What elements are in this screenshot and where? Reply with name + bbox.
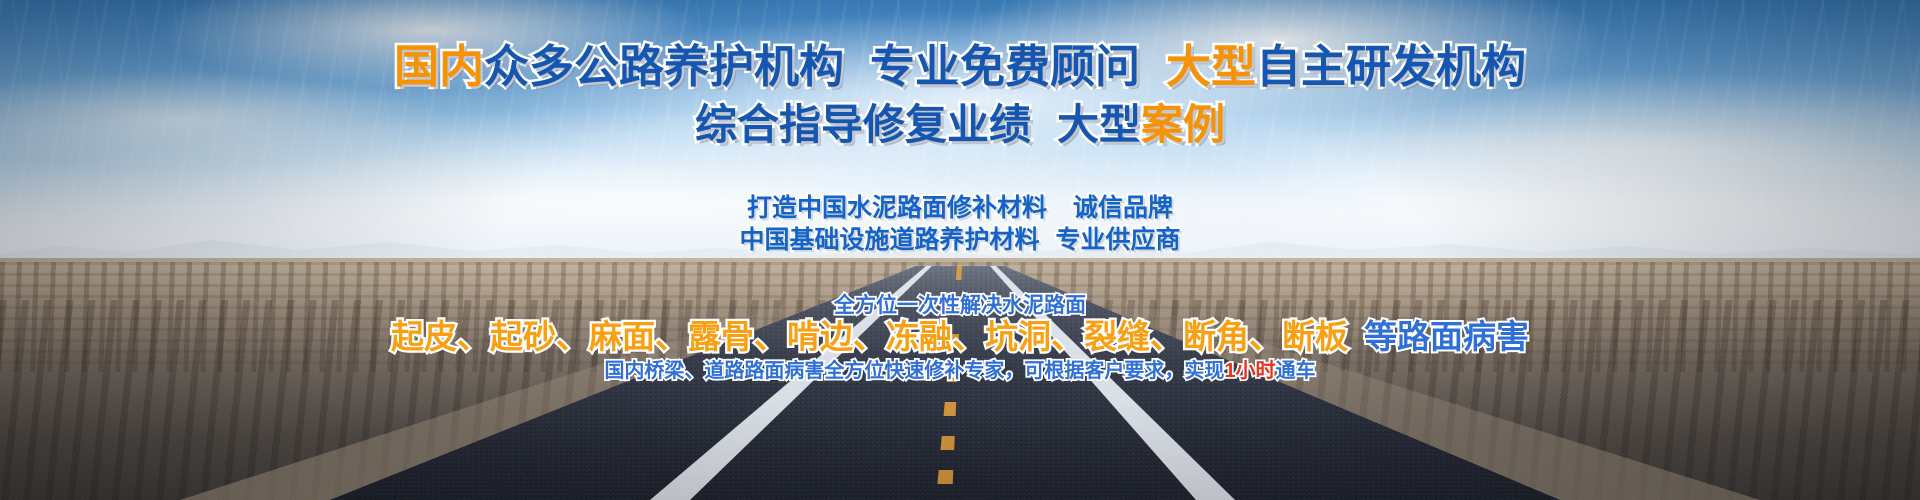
subheading-l2-tag: 专业供应商 bbox=[1056, 226, 1181, 254]
subheading-line-2: 中国基础设施道路养护材料专业供应商 bbox=[0, 228, 1920, 253]
bottom-defects-line: 起皮、起砂、麻面、露骨、啃边、冻融、坑洞、裂缝、断角、断板等路面病害 bbox=[0, 320, 1920, 353]
headline-l1-seg-3: 专业 bbox=[870, 41, 960, 92]
banner-text-layer: 国内众多公路养护机构专业免费顾问大型自主研发机构 综合指导修复业绩大型案例 打造… bbox=[0, 0, 1920, 500]
headline-l2-seg-3: 案例 bbox=[1141, 101, 1225, 148]
bottom-closing-highlight: 1小时 bbox=[1224, 360, 1275, 382]
bottom-lead-text: 全方位一次性解决水泥路面 bbox=[834, 294, 1086, 317]
headline-line-1: 国内众多公路养护机构专业免费顾问大型自主研发机构 bbox=[0, 44, 1920, 89]
headline-l1-seg-5: 大型 bbox=[1166, 41, 1256, 92]
headline-l1-seg-2: 众多公路养护机构 bbox=[484, 41, 844, 92]
promo-banner: 国内众多公路养护机构专业免费顾问大型自主研发机构 综合指导修复业绩大型案例 打造… bbox=[0, 0, 1920, 500]
subheading-l2-main: 中国基础设施道路养护材料 bbox=[739, 226, 1039, 254]
bottom-defects-suffix: 等路面病害 bbox=[1364, 318, 1529, 355]
headline-l2-seg-2: 大型 bbox=[1057, 101, 1141, 148]
bottom-defects-list: 起皮、起砂、麻面、露骨、啃边、冻融、坑洞、裂缝、断角、断板 bbox=[391, 318, 1348, 355]
bottom-lead-line: 全方位一次性解决水泥路面 bbox=[0, 295, 1920, 316]
bottom-closing-a: 国内桥梁、道路路面病害全方位快速修补专家，可根据客户要求，实现 bbox=[604, 360, 1224, 382]
bottom-closing-b: 通车 bbox=[1276, 360, 1316, 382]
subheading-l1-tag: 诚信品牌 bbox=[1073, 194, 1173, 222]
headline-l1-seg-6: 自主研发机构 bbox=[1256, 41, 1526, 92]
subheading-line-1: 打造中国水泥路面修补材料诚信品牌 bbox=[0, 196, 1920, 221]
headline-l1-seg-1: 国内 bbox=[394, 41, 484, 92]
headline-l2-seg-1: 综合指导修复业绩 bbox=[695, 101, 1031, 148]
headline-line-2: 综合指导修复业绩大型案例 bbox=[0, 104, 1920, 146]
subheading-l1-main: 打造中国水泥路面修补材料 bbox=[747, 194, 1047, 222]
bottom-closing-line: 国内桥梁、道路路面病害全方位快速修补专家，可根据客户要求，实现1小时通车 bbox=[0, 361, 1920, 381]
headline-l1-seg-4: 免费顾问 bbox=[960, 41, 1140, 92]
